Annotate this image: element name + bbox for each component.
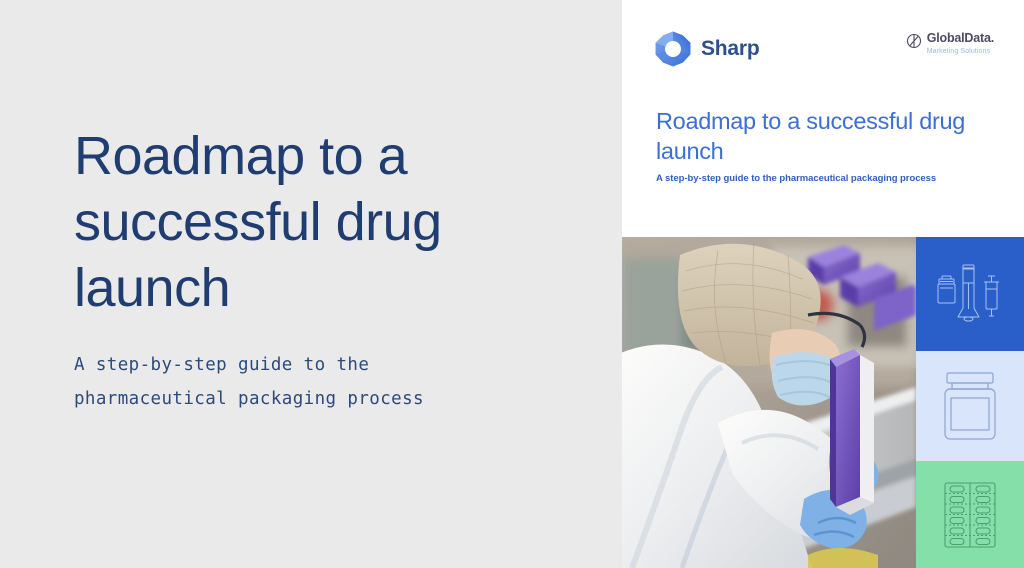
hero-pane: Roadmap to a successful drug launch A st…: [0, 0, 622, 568]
page-subtitle: A step-by-step guide to the pharmaceutic…: [74, 348, 504, 416]
logo-row: Sharp GlobalData. Marketing Solutions: [654, 26, 994, 74]
icon-panel-blister-packs: [916, 461, 1024, 568]
icon-panel-injectables: [916, 237, 1024, 351]
icon-panel-column: [916, 237, 1024, 568]
sharp-logo: Sharp: [654, 30, 760, 68]
cleanroom-photo: [622, 237, 916, 568]
globaldata-circle-icon: [906, 32, 922, 49]
sharp-ring-icon: [654, 30, 692, 68]
document-preview[interactable]: Sharp GlobalData. Marketing Solutions: [622, 0, 1024, 568]
document-header: Sharp GlobalData. Marketing Solutions: [622, 0, 1024, 237]
document-subtitle: A step-by-step guide to the pharmaceutic…: [656, 173, 996, 184]
cover-layout: Roadmap to a successful drug launch A st…: [0, 0, 1024, 568]
globaldata-tagline: Marketing Solutions: [927, 48, 994, 55]
globaldata-wordmark: GlobalData.: [927, 32, 994, 45]
icon-panel-bottles: [916, 351, 1024, 461]
globaldata-logo: GlobalData. Marketing Solutions: [906, 32, 994, 55]
sharp-wordmark: Sharp: [701, 37, 760, 61]
page-title: Roadmap to a successful drug launch: [74, 123, 574, 321]
document-title: Roadmap to a successful drug launch: [656, 106, 996, 166]
